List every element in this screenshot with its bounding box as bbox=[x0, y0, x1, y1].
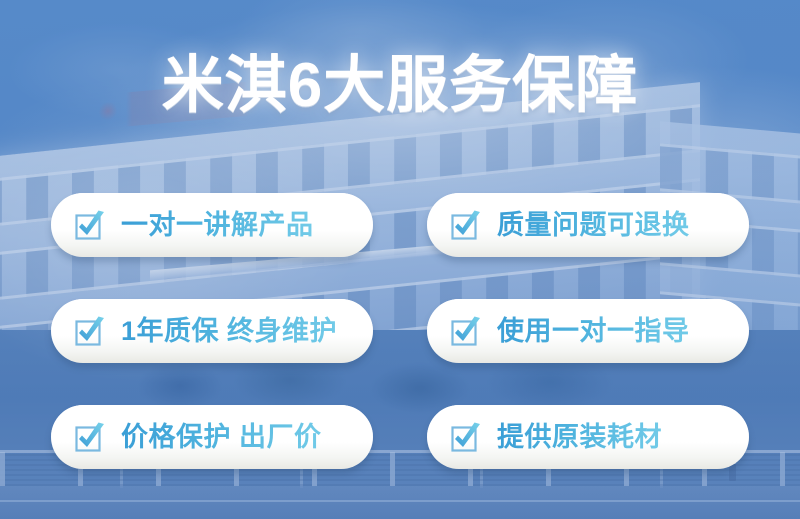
checkbox-checked-icon bbox=[449, 314, 483, 348]
guarantee-list: 一对一讲解产品 质量问题可退换 bbox=[0, 193, 800, 469]
guarantee-item-2[interactable]: 质量问题可退换 bbox=[427, 193, 749, 257]
checkbox-checked-icon bbox=[73, 420, 107, 454]
checkbox-checked-icon bbox=[73, 314, 107, 348]
guarantee-item-6[interactable]: 提供原装耗材 bbox=[427, 405, 749, 469]
guarantee-label: 提供原装耗材 bbox=[497, 420, 662, 454]
guarantee-item-3[interactable]: 1年质保 终身维护 bbox=[51, 299, 373, 363]
guarantee-label: 使用一对一指导 bbox=[497, 314, 690, 348]
guarantee-item-5[interactable]: 价格保护 出厂价 bbox=[51, 405, 373, 469]
checkbox-checked-icon bbox=[449, 420, 483, 454]
guarantee-item-1[interactable]: 一对一讲解产品 bbox=[51, 193, 373, 257]
guarantee-label: 一对一讲解产品 bbox=[121, 208, 314, 242]
guarantee-label: 质量问题可退换 bbox=[497, 208, 690, 242]
page-title: 米淇6大服务保障 bbox=[0, 55, 800, 117]
checkbox-checked-icon bbox=[449, 208, 483, 242]
guarantee-label: 价格保护 出厂价 bbox=[121, 420, 322, 454]
guarantee-item-4[interactable]: 使用一对一指导 bbox=[427, 299, 749, 363]
guarantee-label: 1年质保 终身维护 bbox=[121, 314, 337, 348]
checkbox-checked-icon bbox=[73, 208, 107, 242]
service-guarantee-banner: 米淇6大服务保障 一对一讲解产品 bbox=[0, 0, 800, 519]
